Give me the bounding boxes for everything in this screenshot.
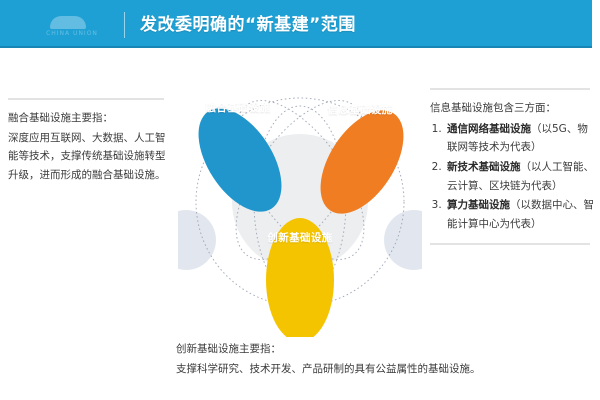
header-underline bbox=[0, 46, 592, 48]
ellipse-label-fusion: 融合基础设施 bbox=[186, 100, 290, 115]
list-item: 算力基础设施（以数据中心、智能计算中心为代表） bbox=[445, 196, 596, 233]
list-item: 通信网络基础设施（以5G、物联网等技术为代表） bbox=[445, 120, 596, 157]
panel-right-rule-bottom bbox=[430, 243, 590, 245]
list-item: 新技术基础设施（以人工智能、云计算、区块链为代表） bbox=[445, 158, 596, 195]
list-item-term: 新技术基础设施 bbox=[447, 161, 521, 173]
venn-diagram: 融合基础设施 信息基础设施 创新基础设施 bbox=[178, 52, 422, 337]
ellipse-label-innovation: 创新基础设施 bbox=[248, 230, 352, 245]
dome-logo-icon bbox=[50, 16, 86, 29]
information-infrastructure-panel: 信息基础设施包含三方面： 通信网络基础设施（以5G、物联网等技术为代表） 新技术… bbox=[430, 88, 596, 245]
slide-canvas: CHINA UNION 发改委明确的“新基建”范围 融合基础设施 信 bbox=[0, 0, 600, 400]
left-decor-circle bbox=[178, 210, 216, 270]
footer-spacer bbox=[0, 392, 600, 400]
panel-bottom-body: 支撑科学研究、技术开发、产品研制的具有公益属性的基础设施。 bbox=[176, 360, 476, 379]
venn-diagram-svg bbox=[178, 52, 422, 337]
ellipse-label-information: 信息基础设施 bbox=[308, 102, 412, 117]
list-item-term: 通信网络基础设施 bbox=[447, 123, 531, 135]
fusion-infrastructure-panel: 融合基础设施主要指： 深度应用互联网、大数据、人工智能等技术，支撑传统基础设施转… bbox=[8, 98, 174, 185]
panel-left-lead: 融合基础设施主要指： bbox=[8, 109, 174, 128]
panel-right-rule-top bbox=[430, 88, 590, 90]
information-infrastructure-list: 通信网络基础设施（以5G、物联网等技术为代表） 新技术基础设施（以人工智能、云计… bbox=[430, 120, 596, 234]
panel-left-body: 深度应用互联网、大数据、人工智能等技术，支撑传统基础设施转型升级，进而形成的融合… bbox=[8, 129, 174, 185]
brand-logo: CHINA UNION bbox=[36, 16, 108, 38]
header-divider bbox=[124, 12, 125, 38]
panel-right-lead: 信息基础设施包含三方面： bbox=[430, 99, 596, 118]
list-item-term: 算力基础设施 bbox=[447, 199, 510, 211]
panel-bottom-lead: 创新基础设施主要指： bbox=[176, 340, 476, 359]
brand-logo-text: CHINA UNION bbox=[36, 30, 108, 37]
innovation-infrastructure-panel: 创新基础设施主要指： 支撑科学研究、技术开发、产品研制的具有公益属性的基础设施。 bbox=[176, 340, 476, 378]
panel-left-rule bbox=[8, 98, 164, 100]
page-title: 发改委明确的“新基建”范围 bbox=[140, 11, 440, 39]
